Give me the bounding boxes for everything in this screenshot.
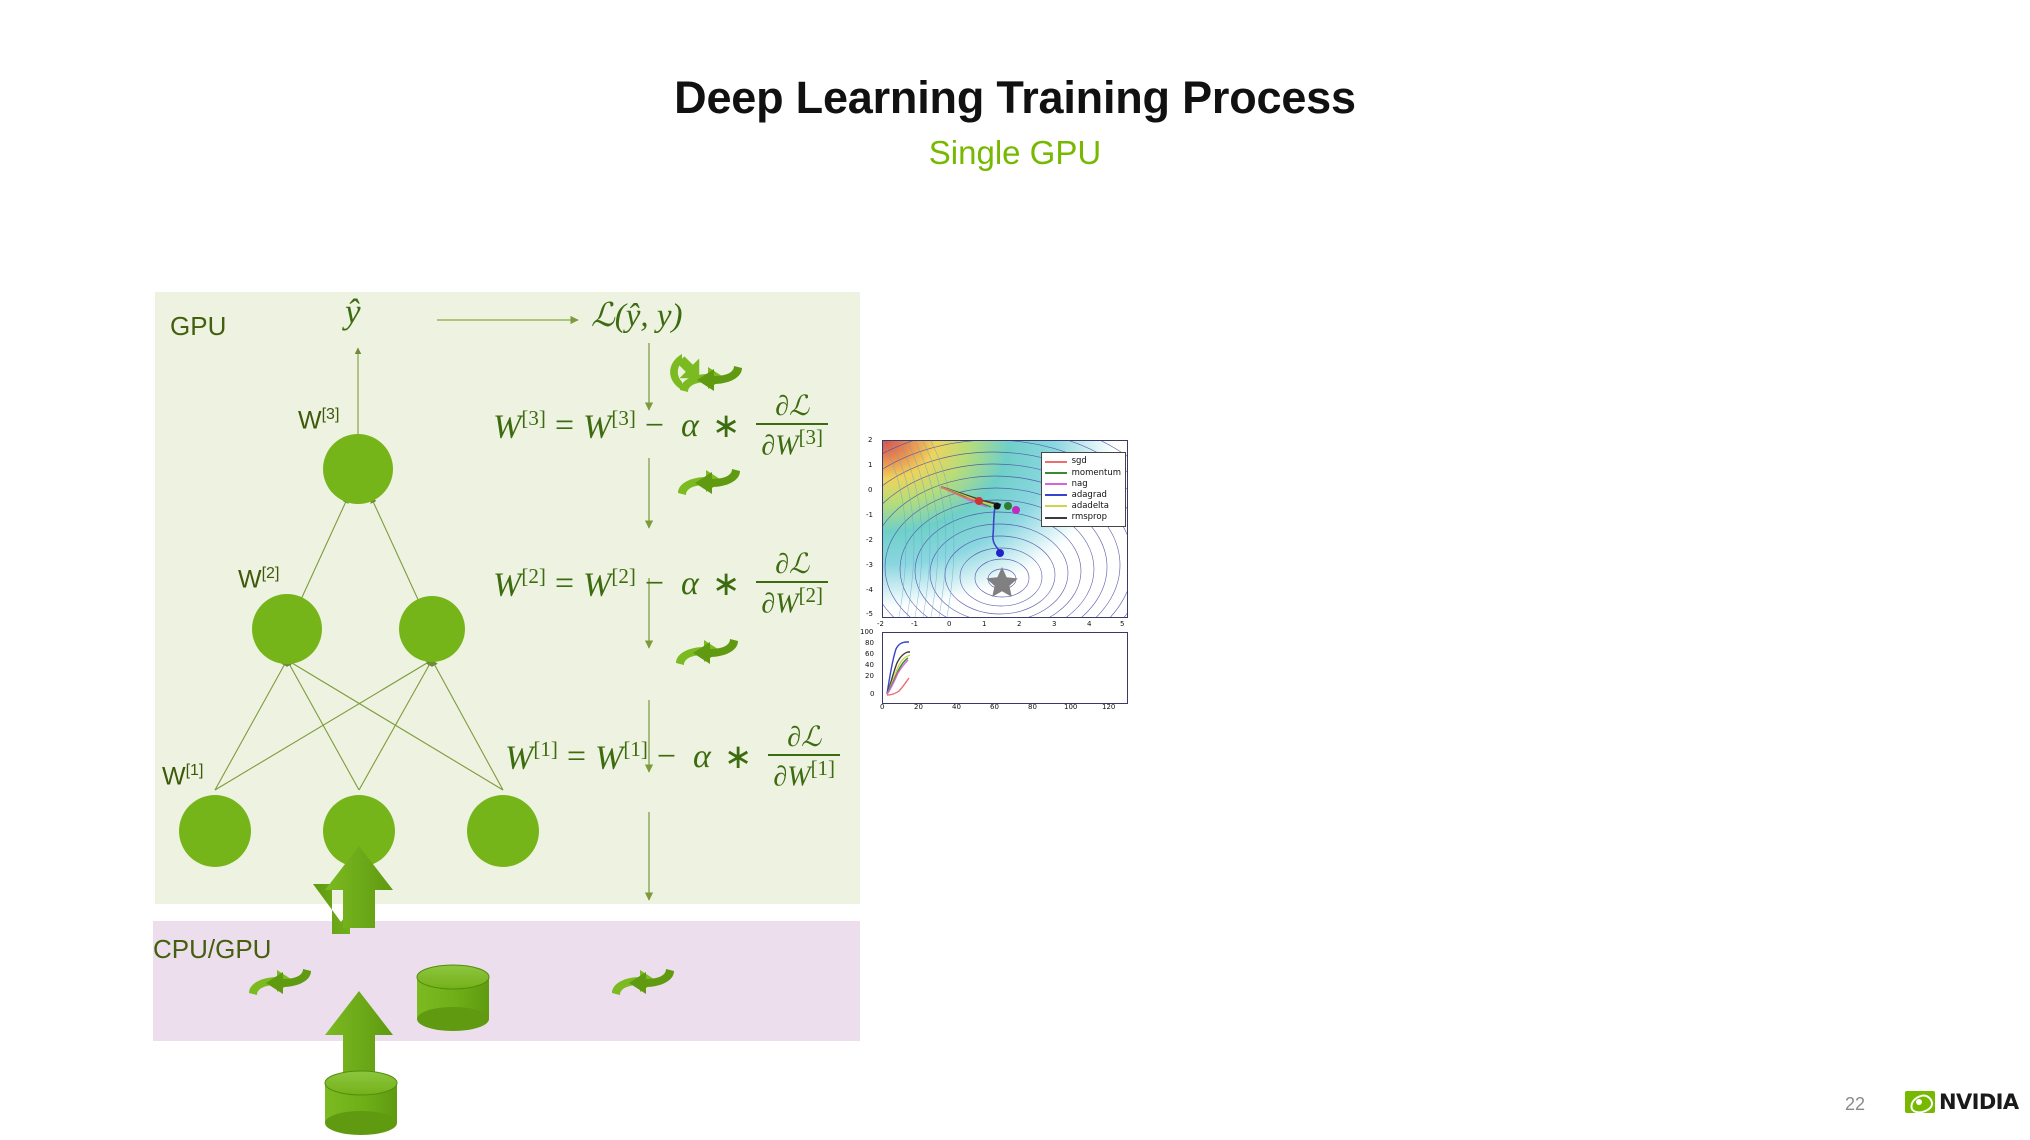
contour-xtick-5: 5: [1120, 620, 1124, 628]
page-subtitle: Single GPU: [0, 134, 2030, 172]
optimizer-legend: sgd momentum nag adagrad adadelta: [1041, 452, 1126, 527]
contour-ytick-m2: -2: [866, 536, 873, 544]
loss-function-label: ℒ(ŷ, y): [591, 295, 683, 335]
nvidia-eye-icon: [1905, 1091, 1935, 1113]
nvidia-logo: NVIDIA: [1905, 1090, 2019, 1114]
training-curve-plot: [882, 632, 1128, 704]
legend-swatch: [1045, 517, 1067, 519]
nvidia-wordmark: NVIDIA: [1939, 1090, 2019, 1114]
legend-item-rmsprop: rmsprop: [1045, 512, 1121, 523]
legend-swatch: [1045, 494, 1067, 496]
contour-ytick-m5: -5: [866, 610, 873, 618]
contour-xtick-m2: -2: [877, 620, 884, 628]
legend-swatch: [1045, 461, 1067, 463]
legend-swatch: [1045, 505, 1067, 507]
slide-canvas: Deep Learning Training Process Single GP…: [0, 0, 2030, 1140]
legend-item-momentum: momentum: [1045, 467, 1121, 478]
loss-ytick-60: 60: [865, 650, 874, 658]
contour-xtick-1: 1: [982, 620, 986, 628]
contour-ytick-0: 0: [868, 486, 872, 494]
loss-ytick-100: 100: [860, 628, 873, 636]
contour-ytick-m3: -3: [866, 561, 873, 569]
legend-item-adagrad: adagrad: [1045, 490, 1121, 501]
loss-ytick-20: 20: [865, 672, 874, 680]
equation-w3: W[3] = W[3] − α ∗ ∂ℒ ∂W[3]: [493, 392, 828, 461]
loss-xtick-20: 20: [914, 703, 923, 711]
sgd-endpoint: [975, 497, 983, 505]
legend-swatch: [1045, 483, 1067, 485]
loss-xtick-80: 80: [1028, 703, 1037, 711]
loss-xtick-60: 60: [990, 703, 999, 711]
output-yhat-label: ŷ: [345, 292, 361, 332]
legend-item-nag: nag: [1045, 478, 1121, 489]
gpu-panel-label: GPU: [170, 311, 226, 342]
equation-w1: W[1] = W[1] − α ∗ ∂ℒ ∂W[1]: [505, 723, 840, 792]
contour-xtick-m1: -1: [911, 620, 918, 628]
contour-loss-surface-plot: sgd momentum nag adagrad adadelta: [882, 440, 1128, 618]
contour-xtick-0: 0: [947, 620, 951, 628]
adagrad-endpoint: [996, 549, 1004, 557]
database-cylinder-icon: [325, 1071, 397, 1135]
momentum-endpoint: [1004, 502, 1012, 510]
training-curve-svg: [883, 633, 1127, 703]
weight-label-w1: W[1]: [162, 762, 203, 791]
page-number: 22: [1845, 1094, 1865, 1115]
cpu-gpu-panel-label: CPU/GPU: [153, 934, 271, 965]
contour-xtick-2: 2: [1017, 620, 1021, 628]
loss-ytick-0: 0: [870, 690, 874, 698]
contour-ytick-2: 2: [868, 436, 872, 444]
loss-xtick-120: 120: [1102, 703, 1115, 711]
contour-xtick-3: 3: [1052, 620, 1056, 628]
legend-item-sgd: sgd: [1045, 456, 1121, 467]
loss-xtick-40: 40: [952, 703, 961, 711]
weight-label-w3: W[3]: [298, 406, 339, 435]
weight-label-w2: W[2]: [238, 565, 279, 594]
page-title: Deep Learning Training Process: [0, 72, 2030, 124]
nag-endpoint: [1012, 506, 1020, 514]
loss-ytick-40: 40: [865, 661, 874, 669]
legend-swatch: [1045, 472, 1067, 474]
contour-xtick-4: 4: [1087, 620, 1091, 628]
loss-ytick-80: 80: [865, 639, 874, 647]
legend-item-adadelta: adadelta: [1045, 501, 1121, 512]
contour-ytick-m4: -4: [866, 586, 873, 594]
optimizer-comparison-figure: sgd momentum nag adagrad adadelta: [868, 440, 1128, 712]
rmsprop-endpoint: [994, 503, 1001, 510]
loss-xtick-0: 0: [880, 703, 884, 711]
loss-xtick-100: 100: [1064, 703, 1077, 711]
contour-ytick-1: 1: [868, 461, 872, 469]
contour-ytick-m1: -1: [866, 511, 873, 519]
equation-w2: W[2] = W[2] − α ∗ ∂ℒ ∂W[2]: [493, 550, 828, 619]
